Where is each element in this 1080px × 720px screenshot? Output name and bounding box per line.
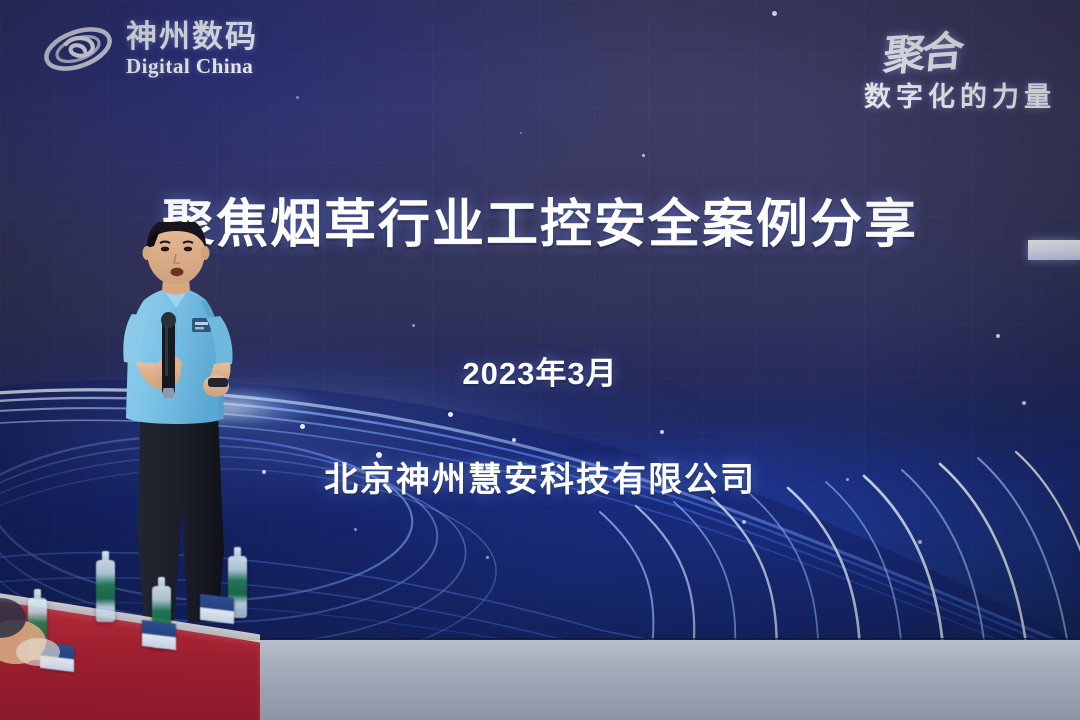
water-bottle: [96, 560, 115, 622]
name-card: [200, 594, 234, 624]
name-card: [142, 620, 176, 650]
digital-china-swirl-icon: [40, 18, 116, 80]
juhe-brand-logo: 聚合 数字化的力量: [864, 20, 1056, 114]
microphone: [161, 312, 176, 398]
brand-name-en: Digital China: [126, 56, 258, 77]
juhe-calligraphy: 聚合: [881, 17, 963, 83]
particle-dot: [520, 132, 522, 134]
digital-china-logo: 神州数码 Digital China: [40, 18, 258, 80]
brand-name-cn: 神州数码: [126, 21, 258, 52]
particle-dot: [772, 11, 777, 16]
particle-dot: [296, 96, 299, 99]
particle-dot: [642, 154, 645, 157]
screen-edge-highlight: [1028, 240, 1080, 260]
particle-dot: [412, 324, 415, 327]
conference-photo: 神州数码 Digital China 聚合 数字化的力量 聚焦烟草行业工控安全案…: [0, 0, 1080, 720]
seated-attendee: [0, 596, 92, 670]
presentation-clicker: [208, 378, 228, 387]
